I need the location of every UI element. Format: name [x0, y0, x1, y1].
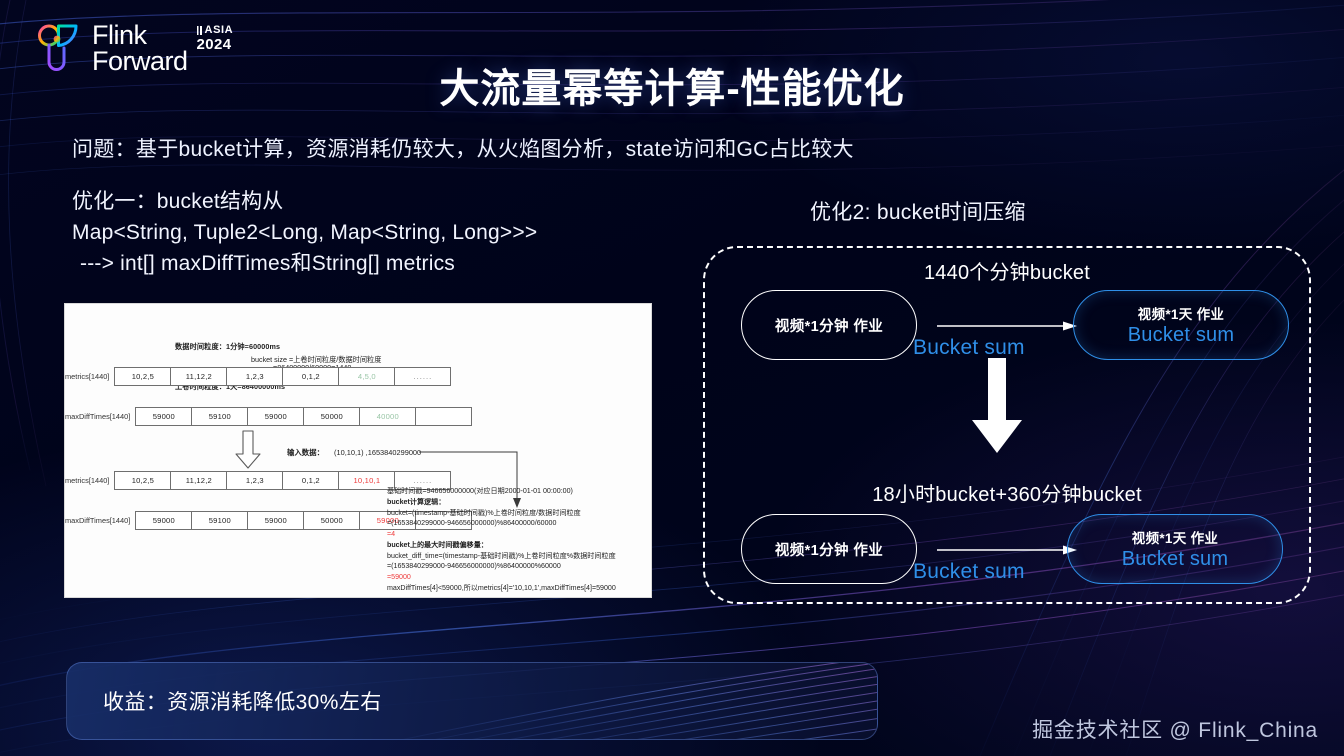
- table-cell: 59000: [247, 511, 304, 530]
- row-label: maxDiffTimes[1440]: [65, 412, 136, 421]
- table-row: maxDiffTimes[1440] 59000 59100 59000 500…: [65, 511, 385, 530]
- table-cell: 40000: [359, 407, 416, 426]
- table-cell: ......: [394, 367, 451, 386]
- table-cell: 10,2,5: [114, 471, 171, 490]
- formula-line: =(1653840299000-946656000000)%86400000/6…: [387, 518, 616, 529]
- table-cell: 11,12,2: [170, 471, 227, 490]
- note-data-granularity: 数据时间粒度：1分钟=60000ms: [175, 342, 280, 352]
- table-cell: [415, 407, 472, 426]
- optimization2-title: 优化2: bucket时间压缩: [810, 196, 1026, 226]
- input-data-annotation: 输入数据： (10,10,1) ,1653840299000: [287, 447, 421, 458]
- brand-line-1: Flink: [92, 22, 188, 48]
- problem-statement: 问题：基于bucket计算，资源消耗仍较大，从火焰图分析，state访问和GC占…: [72, 133, 854, 163]
- formula-line: maxDiffTimes[4]<59000,所以metrics[4]='10,1…: [387, 583, 616, 594]
- row-cells: 10,2,5 11,12,2 1,2,3 0,1,2 4,5,0 ......: [115, 367, 451, 386]
- right-arrow-icon: [937, 320, 1077, 332]
- stage-bottom-label: 18小时bucket+360分钟bucket: [705, 478, 1309, 507]
- row-cells: 59000 59100 59000 50000 40000: [136, 407, 472, 426]
- formula-line: =4: [387, 529, 616, 540]
- table-cell: 59000: [135, 511, 192, 530]
- formula-line: =(1653840299000-946656000000)%86400000%6…: [387, 561, 616, 572]
- table-cell: 59000: [247, 407, 304, 426]
- optimization1-line-2: Map<String, Tuple2<Long, Map<String, Lon…: [72, 217, 537, 248]
- table-cell: 0,1,2: [282, 367, 339, 386]
- optimization1-heading: 优化一：bucket结构从 Map<String, Tuple2<Long, M…: [72, 186, 537, 279]
- table-cell: 11,12,2: [170, 367, 227, 386]
- pill-label: 视频*1分钟 作业: [775, 539, 883, 560]
- stage-bottom-arrow-caption: Bucket sum: [913, 560, 1025, 584]
- table-cell: 0,1,2: [282, 471, 339, 490]
- stage-bottom: 18小时bucket+360分钟bucket 视频*1分钟 作业 Bucket …: [705, 436, 1309, 606]
- formula-line: bucket上的最大时间戳偏移量：: [387, 540, 616, 551]
- optimization2-panel: 1440个分钟bucket 视频*1分钟 作业 Bucket sum 视频*1天…: [703, 246, 1311, 604]
- slide-root: Flink Forward ASIA 2024 大流量幂等计算-性能优化 问题：…: [0, 0, 1344, 756]
- flow-down-arrow-icon: [235, 430, 261, 470]
- table-cell: 4,5,0: [338, 367, 395, 386]
- input-data-value: (10,10,1) ,1653840299000: [326, 448, 421, 457]
- optimization1-line-3: ---> int[] maxDiffTimes和String[] metrics: [72, 248, 537, 279]
- table-cell: 50000: [303, 407, 360, 426]
- row-label: metrics[1440]: [65, 476, 115, 485]
- input-data-label: 输入数据：: [287, 448, 324, 457]
- page-title: 大流量幂等计算-性能优化: [0, 56, 1344, 114]
- brand-year: 2024: [197, 37, 234, 53]
- pill-label-primary: 视频*1天 作业: [1138, 303, 1224, 323]
- formula-line: 基础时间戳=946656000000(对应日期2000-01-01 00:00:…: [387, 486, 616, 497]
- formula-line: bucket_diff_time=(timestamp-基础时间戳)%上卷时间粒…: [387, 551, 616, 562]
- pill-label-secondary: Bucket sum: [1122, 548, 1228, 571]
- right-arrow-icon: [937, 544, 1077, 556]
- bucket-calculation-formula: 基础时间戳=946656000000(对应日期2000-01-01 00:00:…: [387, 486, 616, 594]
- watermark: 掘金技术社区 @ Flink_China: [1032, 714, 1318, 744]
- stage-top-target-pill: 视频*1天 作业 Bucket sum: [1073, 290, 1289, 360]
- optimization1-line-1: 优化一：bucket结构从: [72, 186, 537, 217]
- table-cell: 50000: [303, 511, 360, 530]
- stage-bottom-source-pill: 视频*1分钟 作业: [741, 514, 917, 584]
- bucket-structure-diagram: 数据时间粒度：1分钟=60000ms 上卷时间粒度：1天=86400000ms …: [64, 303, 652, 598]
- stage-top-arrow-caption: Bucket sum: [913, 336, 1025, 360]
- stage-top-label: 1440个分钟bucket: [705, 256, 1309, 285]
- row-label: maxDiffTimes[1440]: [65, 516, 136, 525]
- pill-label-secondary: Bucket sum: [1128, 324, 1234, 347]
- table-cell: 1,2,3: [226, 367, 283, 386]
- table-cell: 1,2,3: [226, 471, 283, 490]
- table-row: metrics[1440] 10,2,5 11,12,2 1,2,3 0,1,2…: [65, 471, 385, 490]
- formula-line: bucket计算逻辑：: [387, 497, 616, 508]
- formula-line: =59000: [387, 572, 616, 583]
- row-label: metrics[1440]: [65, 372, 115, 381]
- stage-bottom-target-pill: 视频*1天 作业 Bucket sum: [1067, 514, 1283, 584]
- formula-line: bucket=(timestamp-基础时间戳)%上卷时间粒度/数据时间粒度: [387, 508, 616, 519]
- stage-top-source-pill: 视频*1分钟 作业: [741, 290, 917, 360]
- table-cell: 10,2,5: [114, 367, 171, 386]
- table-row: metrics[1440] 10,2,5 11,12,2 1,2,3 0,1,2…: [65, 367, 385, 386]
- table-row: maxDiffTimes[1440] 59000 59100 59000 500…: [65, 407, 385, 426]
- pill-label: 视频*1分钟 作业: [775, 315, 883, 336]
- pill-label-primary: 视频*1天 作业: [1132, 527, 1218, 547]
- table-cell: 59100: [191, 511, 248, 530]
- benefit-banner: 收益：资源消耗降低30%左右: [66, 662, 878, 740]
- benefit-text: 收益：资源消耗降低30%左右: [103, 686, 382, 716]
- table-cell: 59000: [135, 407, 192, 426]
- table-cell: 59100: [191, 407, 248, 426]
- brand-edition-badge: ASIA 2024: [197, 25, 234, 53]
